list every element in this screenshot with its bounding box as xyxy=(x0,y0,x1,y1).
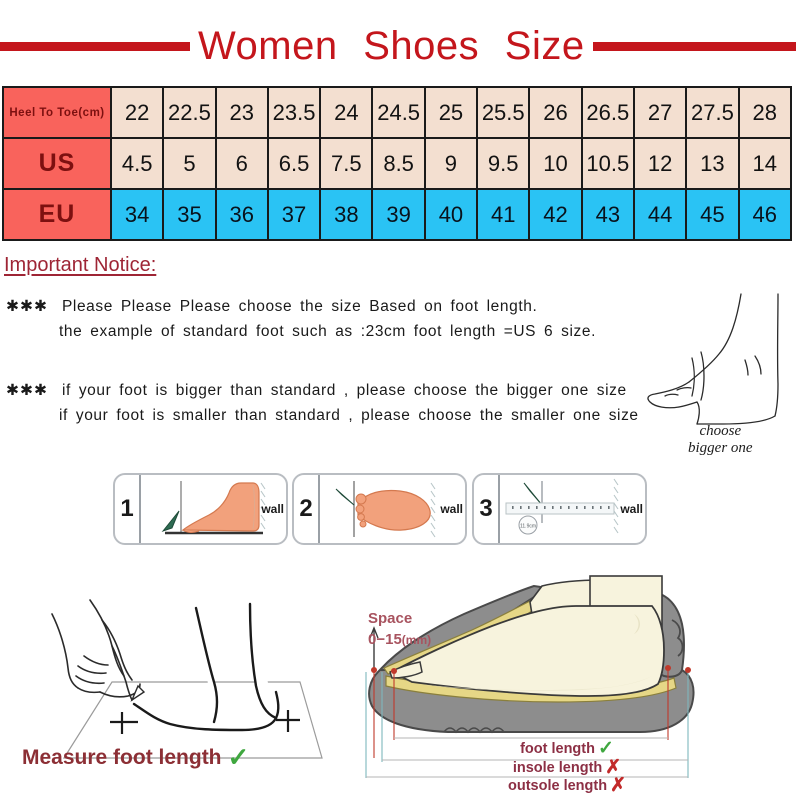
important-notice-heading: Important Notice: xyxy=(4,254,156,277)
cell-us: 4.5 xyxy=(111,138,163,189)
step-number-1: 1 xyxy=(115,475,141,543)
cell-us: 13 xyxy=(686,138,738,189)
notice-line-3: if your foot is bigger than standard , p… xyxy=(62,382,627,399)
choose-bigger-one-label: choose bigger one xyxy=(688,423,753,457)
page-title-word-size: Size xyxy=(505,24,585,68)
notice-block-one: ✱✱✱Please Please Please choose the size … xyxy=(6,294,596,344)
row-label-us: US xyxy=(3,138,111,189)
wall-label: wall xyxy=(261,502,284,516)
legend-label: insole length xyxy=(513,759,602,778)
legend-row-insole-length: insole length ✗ xyxy=(402,759,732,778)
cell-eu: 41 xyxy=(477,189,529,240)
space-gap-label: Space 0−15(mm) xyxy=(368,608,431,651)
legend-label: outsole length xyxy=(508,777,607,796)
cell-eu: 36 xyxy=(216,189,268,240)
cell-us: 6.5 xyxy=(268,138,320,189)
cell-us: 8.5 xyxy=(372,138,424,189)
step-number-2: 2 xyxy=(294,475,320,543)
space-label-unit: (mm) xyxy=(402,633,431,647)
page-title: Women Shoes Size xyxy=(190,24,593,69)
row-label-eu: EU xyxy=(3,189,111,240)
cell-cm: 23.5 xyxy=(268,87,320,138)
measure-foot-length-caption: Measure foot length✓ xyxy=(22,742,249,773)
cell-eu: 46 xyxy=(739,189,791,240)
step-panel-2: 2 wall xyxy=(292,473,467,545)
cell-us: 10 xyxy=(529,138,581,189)
space-label-line-1: Space xyxy=(368,608,431,629)
cell-us: 9.5 xyxy=(477,138,529,189)
table-row-us: US 4.5 5 6 6.5 7.5 8.5 9 9.5 10 10.5 12 … xyxy=(3,138,791,189)
cell-eu: 39 xyxy=(372,189,424,240)
cell-cm: 23 xyxy=(216,87,268,138)
step-panel-3: 3 11.9cm xyxy=(472,473,647,545)
cell-eu: 43 xyxy=(582,189,634,240)
step-1-illustration: wall xyxy=(141,475,288,543)
choose-line-1: choose xyxy=(688,423,753,440)
page-title-word-women: Women xyxy=(198,24,338,68)
step-2-illustration: wall xyxy=(320,475,467,543)
cell-us: 7.5 xyxy=(320,138,372,189)
title-accent-bar-left xyxy=(0,42,190,51)
cell-eu: 45 xyxy=(686,189,738,240)
table-row-eu: EU 34 35 36 37 38 39 40 41 42 43 44 45 4… xyxy=(3,189,791,240)
legend-label: foot length xyxy=(520,740,595,759)
cell-cm: 28 xyxy=(739,87,791,138)
cell-us: 6 xyxy=(216,138,268,189)
cell-cm: 24 xyxy=(320,87,372,138)
legend-row-foot-length: foot length ✓ xyxy=(402,740,732,759)
step-number-3: 3 xyxy=(474,475,500,543)
measure-caption-text: Measure foot length xyxy=(22,746,222,769)
cell-us: 10.5 xyxy=(582,138,634,189)
step-panel-1: 1 wall xyxy=(113,473,288,545)
wall-label: wall xyxy=(440,502,463,516)
cell-us: 9 xyxy=(425,138,477,189)
red-cross-icon: ✗ xyxy=(610,777,626,796)
cell-eu: 42 xyxy=(529,189,581,240)
table-row-heel-to-toe: Heel To Toe(cm) 22 22.5 23 23.5 24 24.5 … xyxy=(3,87,791,138)
green-check-icon: ✓ xyxy=(598,740,614,759)
green-check-icon: ✓ xyxy=(228,742,250,772)
row-label-heel-to-toe: Heel To Toe(cm) xyxy=(3,87,111,138)
cell-cm: 27.5 xyxy=(686,87,738,138)
notice-line-2: the example of standard foot such as :23… xyxy=(59,323,596,340)
notice-stars: ✱✱✱ xyxy=(6,382,48,399)
cell-cm: 26 xyxy=(529,87,581,138)
measurement-steps: 1 wall 2 xyxy=(0,470,796,550)
step-3-illustration: 11.9cm wall xyxy=(500,475,647,543)
cell-cm: 27 xyxy=(634,87,686,138)
cell-us: 12 xyxy=(634,138,686,189)
page-title-word-shoes: Shoes xyxy=(363,24,479,68)
cell-cm: 26.5 xyxy=(582,87,634,138)
notice-block-two: ✱✱✱if your foot is bigger than standard … xyxy=(6,378,639,428)
notice-line-4: if your foot is smaller than standard , … xyxy=(59,407,639,424)
notice-stars: ✱✱✱ xyxy=(6,298,48,315)
title-accent-bar-right xyxy=(593,42,796,51)
notice-line-1: Please Please Please choose the size Bas… xyxy=(62,298,537,315)
cell-cm: 22 xyxy=(111,87,163,138)
cell-eu: 34 xyxy=(111,189,163,240)
cell-us: 14 xyxy=(739,138,791,189)
cell-eu: 37 xyxy=(268,189,320,240)
cell-cm: 22.5 xyxy=(163,87,215,138)
choose-line-2: bigger one xyxy=(688,440,753,457)
cell-eu: 35 xyxy=(163,189,215,240)
space-label-line-2: 0−15 xyxy=(368,631,402,648)
length-legend: foot length ✓ insole length ✗ outsole le… xyxy=(402,740,732,796)
cell-eu: 44 xyxy=(634,189,686,240)
cell-eu: 38 xyxy=(320,189,372,240)
size-conversion-table: Heel To Toe(cm) 22 22.5 23 23.5 24 24.5 … xyxy=(2,86,792,241)
page-title-row: Women Shoes Size xyxy=(0,18,796,74)
wall-label: wall xyxy=(620,502,643,516)
cell-eu: 40 xyxy=(425,189,477,240)
legend-row-outsole-length: outsole length ✗ xyxy=(402,777,732,796)
cell-cm: 25 xyxy=(425,87,477,138)
cell-us: 5 xyxy=(163,138,215,189)
ruler-badge-text: 11.9cm xyxy=(520,524,536,530)
cell-cm: 24.5 xyxy=(372,87,424,138)
cell-cm: 25.5 xyxy=(477,87,529,138)
